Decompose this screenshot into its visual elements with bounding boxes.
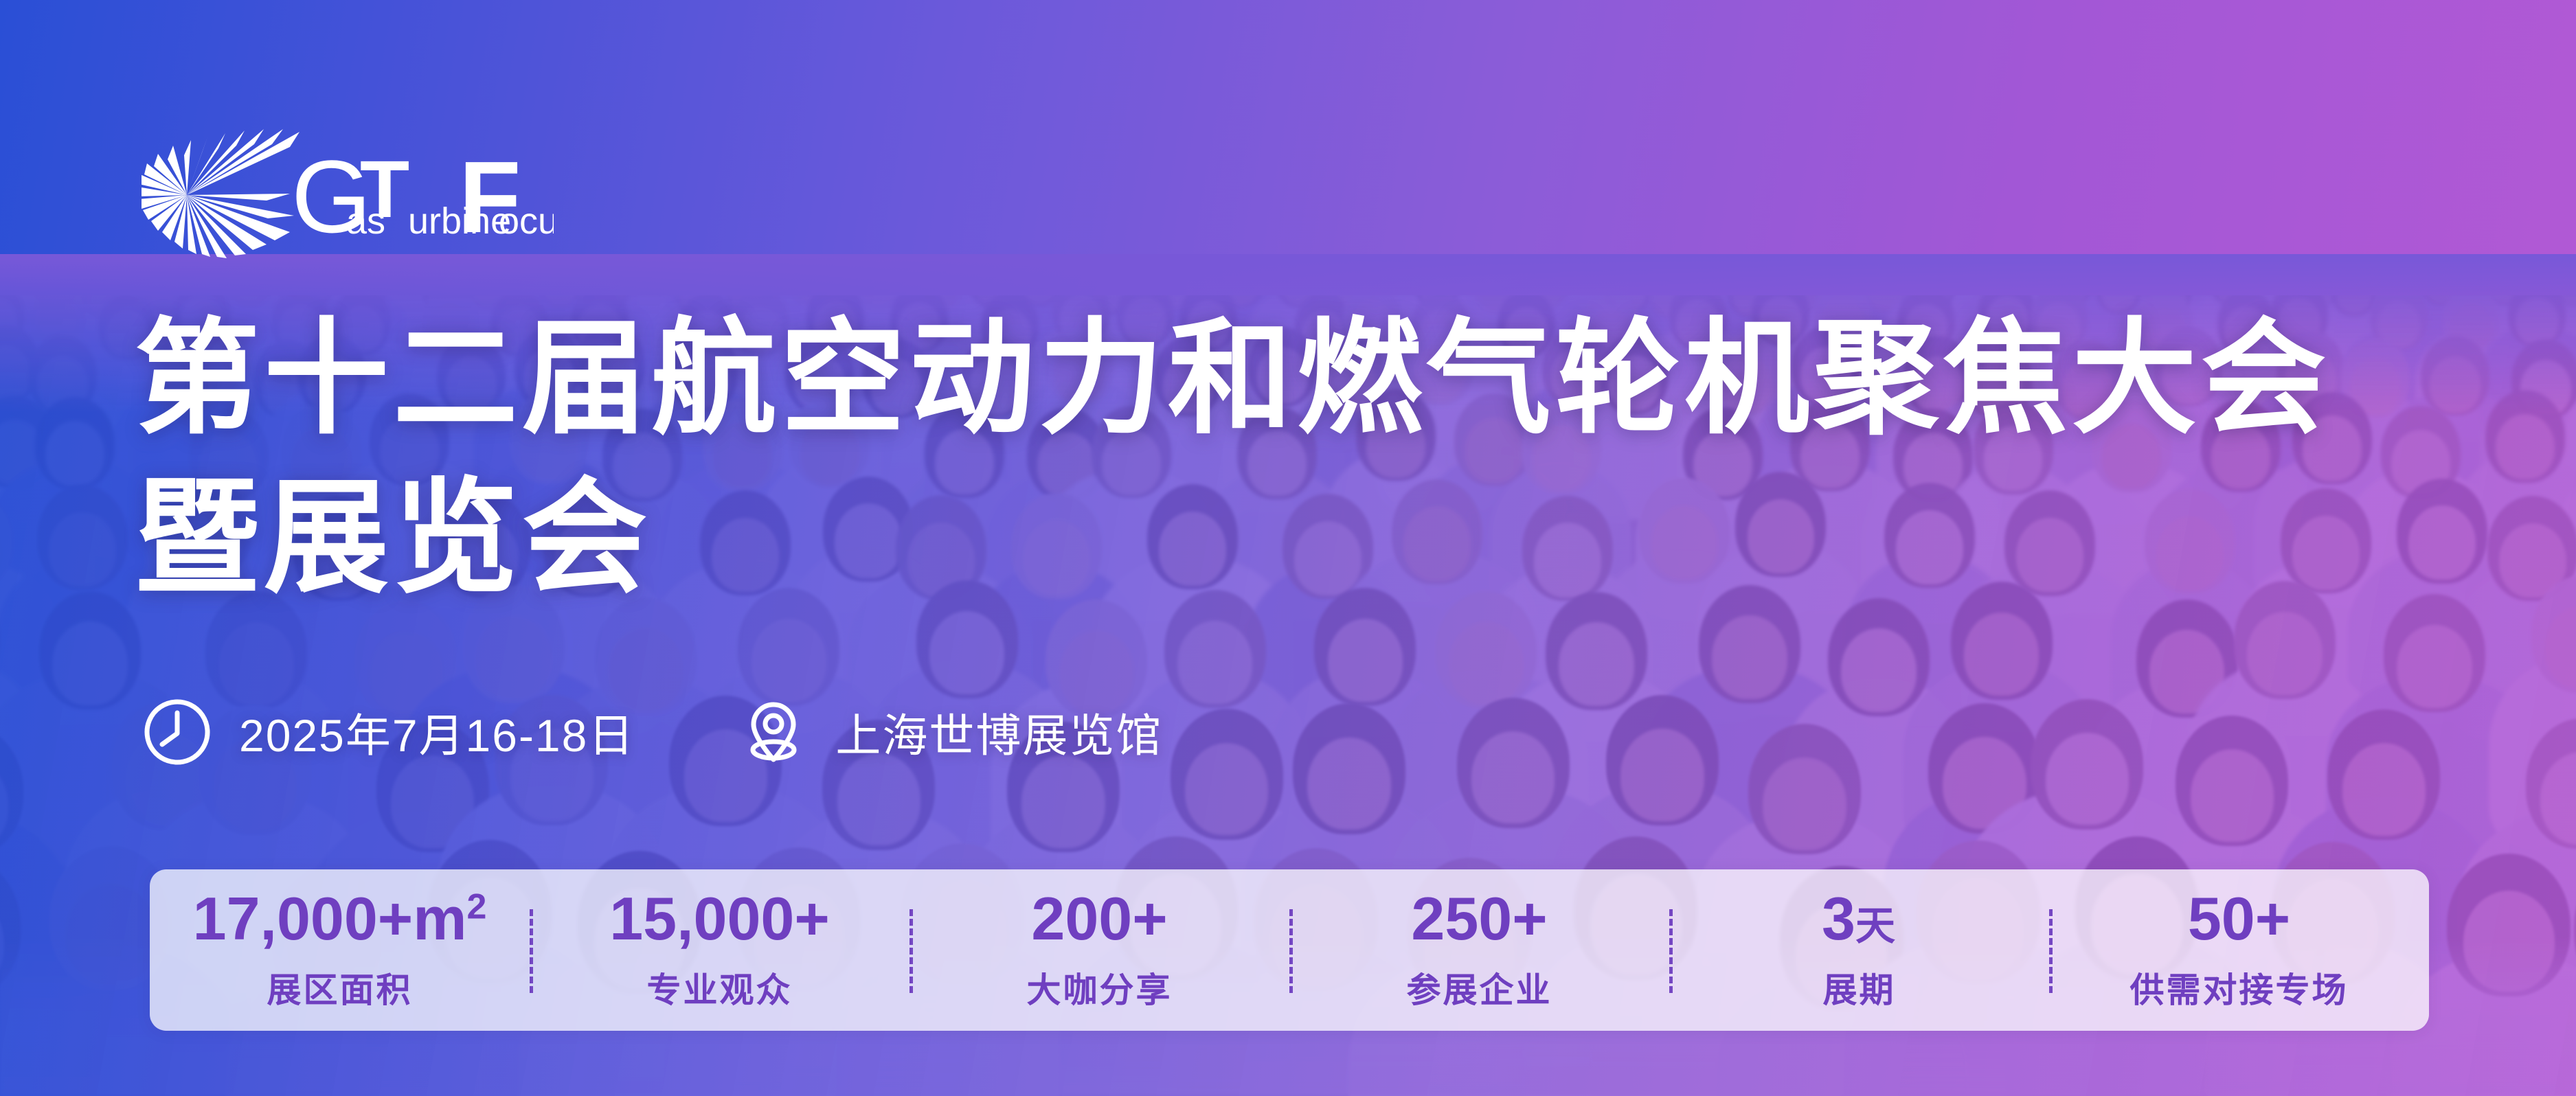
stat-value: 50+ [2188,889,2290,949]
stat-value: 3天 [1822,889,1897,949]
logo-sub-urbine: urbine [408,201,511,242]
banner-content: G T F as urbine ocus 第十二届航空动力和燃气轮机聚焦大会 暨… [0,0,2576,1096]
stat-item: 3天展期 [1669,889,2049,1012]
logo-sub-ocus: ocus [499,201,554,242]
stat-item: 200+大咖分享 [909,889,1289,1012]
stat-label: 专业观众 [647,963,793,1012]
clock-icon [142,696,213,768]
event-venue-text: 上海世博展览馆 [835,699,1162,765]
event-stats-panel: 17,000+m2展区面积15,000+专业观众200+大咖分享250+参展企业… [150,869,2429,1031]
logo-sub-as: as [346,201,385,242]
event-date-text: 2025年7月16-18日 [239,699,635,765]
stat-label: 展区面积 [267,963,413,1012]
stat-value: 200+ [1031,889,1167,949]
stat-item: 15,000+专业观众 [530,889,909,1012]
stat-value-superscript: 2 [466,887,486,926]
stat-value-unit: 天 [1855,904,1897,948]
event-title-line-2: 暨展览会 [135,461,651,614]
event-date-item: 2025年7月16-18日 [142,696,635,768]
stat-label: 展期 [1823,963,1896,1012]
stat-item: 250+参展企业 [1289,889,1669,1012]
turbine-radial-burst-icon [142,129,300,258]
stat-item: 50+供需对接专场 [2049,889,2429,1012]
event-meta-row: 2025年7月16-18日 上海世博展览馆 [142,696,1162,768]
stat-label: 参展企业 [1407,963,1552,1012]
stat-value: 15,000+ [609,889,830,949]
event-title-line-1: 第十二届航空动力和燃气轮机聚焦大会 [135,302,2330,455]
event-banner: G T F as urbine ocus 第十二届航空动力和燃气轮机聚焦大会 暨… [0,0,2576,1096]
stat-label: 大咖分享 [1027,963,1173,1012]
gtf-logo[interactable]: G T F as urbine ocus [142,129,554,260]
stat-value: 250+ [1411,889,1547,949]
stat-value: 17,000+m2 [193,889,487,949]
stat-label: 供需对接专场 [2130,963,2349,1012]
event-venue-item: 上海世博展览馆 [738,696,1162,768]
map-pin-icon [738,696,809,768]
stat-item: 17,000+m2展区面积 [150,889,530,1012]
